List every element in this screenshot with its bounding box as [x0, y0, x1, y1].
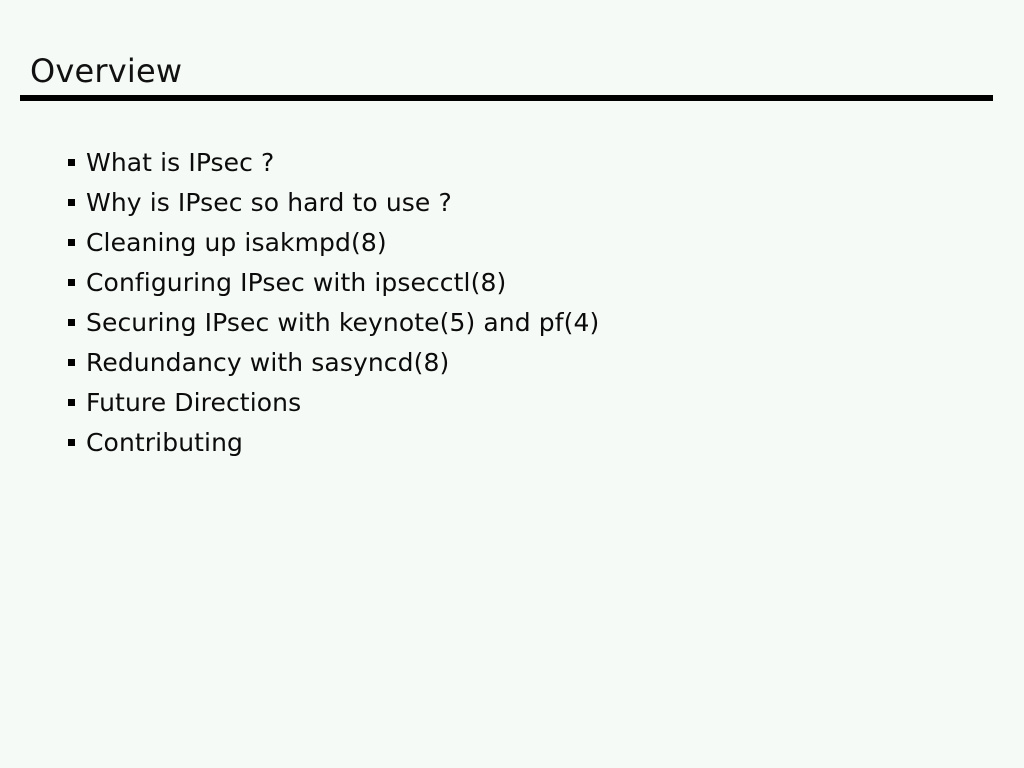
list-item-label: Cleaning up isakmpd(8) — [86, 223, 387, 263]
square-bullet-icon — [68, 439, 75, 446]
title-divider — [20, 95, 993, 101]
presentation-slide: Overview What is IPsec ? Why is IPsec so… — [0, 0, 1024, 768]
square-bullet-icon — [68, 159, 75, 166]
square-bullet-icon — [68, 319, 75, 326]
list-item: Securing IPsec with keynote(5) and pf(4) — [68, 303, 968, 343]
list-item-label: Future Directions — [86, 383, 301, 423]
list-item: Configuring IPsec with ipsecctl(8) — [68, 263, 968, 303]
list-item-label: Contributing — [86, 423, 243, 463]
list-item-label: Configuring IPsec with ipsecctl(8) — [86, 263, 506, 303]
square-bullet-icon — [68, 279, 75, 286]
list-item-label: Redundancy with sasyncd(8) — [86, 343, 449, 383]
list-item: What is IPsec ? — [68, 143, 968, 183]
square-bullet-icon — [68, 199, 75, 206]
list-item: Contributing — [68, 423, 968, 463]
overview-bullet-list: What is IPsec ? Why is IPsec so hard to … — [68, 143, 968, 463]
list-item-label: Why is IPsec so hard to use ? — [86, 183, 452, 223]
list-item: Future Directions — [68, 383, 968, 423]
list-item-label: Securing IPsec with keynote(5) and pf(4) — [86, 303, 599, 343]
square-bullet-icon — [68, 399, 75, 406]
list-item: Redundancy with sasyncd(8) — [68, 343, 968, 383]
square-bullet-icon — [68, 359, 75, 366]
list-item-label: What is IPsec ? — [86, 143, 274, 183]
list-item: Why is IPsec so hard to use ? — [68, 183, 968, 223]
page-title: Overview — [30, 52, 182, 90]
list-item: Cleaning up isakmpd(8) — [68, 223, 968, 263]
square-bullet-icon — [68, 239, 75, 246]
